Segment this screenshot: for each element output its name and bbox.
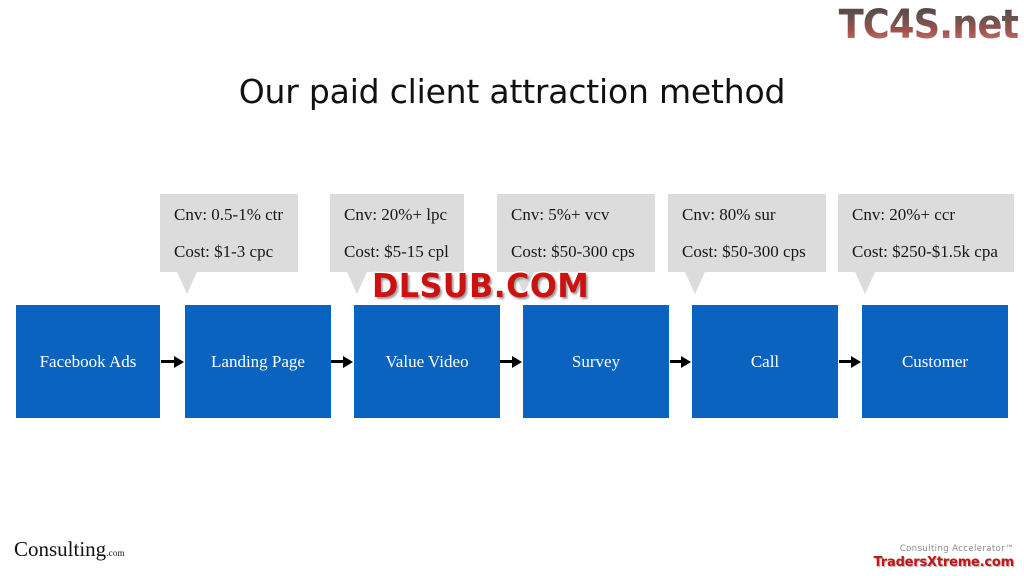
flow-step-survey[interactable]: Survey	[523, 305, 669, 418]
arrow-head	[343, 356, 353, 368]
flow-step-landing-page[interactable]: Landing Page	[185, 305, 331, 418]
flow-step-label: Value Video	[385, 352, 468, 372]
callout-2-cost: Cost: $5-15 cpl	[344, 243, 450, 260]
tradersxtreme-site: TradersXtreme.com	[874, 555, 1014, 570]
flow-step-customer[interactable]: Customer	[862, 305, 1008, 418]
callout-5-conversion: Cnv: 20%+ ccr	[852, 206, 1000, 223]
arrow-icon-1	[161, 356, 184, 367]
arrow-icon-5	[839, 356, 861, 367]
flow-step-label: Landing Page	[211, 352, 305, 372]
arrow-shaft	[500, 360, 512, 363]
arrow-icon-3	[500, 356, 522, 367]
slide-canvas: Our paid client attraction method Cnv: 0…	[0, 0, 1024, 576]
arrow-head	[512, 356, 522, 368]
callout-box-4: Cnv: 80% sur Cost: $50-300 cps	[668, 194, 826, 272]
page-title: Our paid client attraction method	[0, 72, 1024, 111]
flow-step-label: Customer	[902, 352, 968, 372]
callout-4-tail	[685, 272, 705, 294]
logo-wordmark: Consulting	[14, 537, 106, 561]
callout-5-tail	[855, 272, 875, 294]
arrow-shaft	[839, 360, 851, 363]
arrow-shaft	[670, 360, 681, 363]
callout-4-conversion: Cnv: 80% sur	[682, 206, 812, 223]
callout-box-2: Cnv: 20%+ lpc Cost: $5-15 cpl	[330, 194, 464, 272]
callout-1-conversion: Cnv: 0.5-1% ctr	[174, 206, 284, 223]
flow-step-facebook-ads[interactable]: Facebook Ads	[16, 305, 160, 418]
callout-2-conversion: Cnv: 20%+ lpc	[344, 206, 450, 223]
watermark-tradersxtreme: Consulting Accelerator™ TradersXtreme.co…	[874, 544, 1014, 570]
watermark-dlsub: DLSUB.COM	[372, 266, 589, 305]
arrow-icon-2	[331, 356, 353, 367]
consulting-dot-com-logo: Consulting.com	[14, 537, 125, 562]
arrow-shaft	[161, 360, 174, 363]
flow-step-value-video[interactable]: Value Video	[354, 305, 500, 418]
arrow-head	[851, 356, 861, 368]
flow-step-label: Survey	[572, 352, 620, 372]
callout-1-cost: Cost: $1-3 cpc	[174, 243, 284, 260]
callout-4-cost: Cost: $50-300 cps	[682, 243, 812, 260]
flow-step-label: Call	[751, 352, 779, 372]
watermark-tc4s: TC4S.net	[838, 2, 1018, 48]
flow-step-label: Facebook Ads	[40, 352, 137, 372]
arrow-icon-4	[670, 356, 691, 367]
callout-box-1: Cnv: 0.5-1% ctr Cost: $1-3 cpc	[160, 194, 298, 272]
callout-2-tail	[347, 272, 367, 294]
callout-3-conversion: Cnv: 5%+ vcv	[511, 206, 641, 223]
callout-box-5: Cnv: 20%+ ccr Cost: $250-$1.5k cpa	[838, 194, 1014, 272]
callout-5-cost: Cost: $250-$1.5k cpa	[852, 243, 1000, 260]
arrow-shaft	[331, 360, 343, 363]
logo-suffix: .com	[106, 548, 125, 558]
callout-box-3: Cnv: 5%+ vcv Cost: $50-300 cps	[497, 194, 655, 272]
callout-3-cost: Cost: $50-300 cps	[511, 243, 641, 260]
arrow-head	[681, 356, 691, 368]
flow-step-call[interactable]: Call	[692, 305, 838, 418]
consulting-accelerator-tagline: Consulting Accelerator™	[874, 544, 1014, 554]
callout-1-tail	[177, 272, 197, 294]
arrow-head	[174, 356, 184, 368]
